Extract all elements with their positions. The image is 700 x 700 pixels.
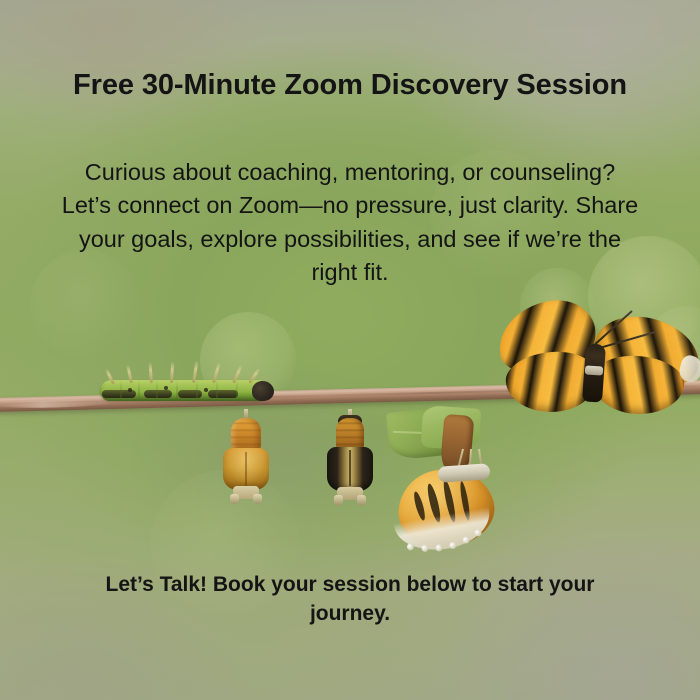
caterpillar-marking bbox=[208, 390, 238, 398]
chrysalis-wing-case bbox=[327, 447, 373, 491]
caterpillar-segment bbox=[216, 380, 218, 401]
caterpillar-segment bbox=[120, 380, 122, 401]
wing-spot bbox=[421, 544, 429, 552]
caterpillar-marking bbox=[178, 390, 202, 398]
chrysalis-tip bbox=[253, 494, 262, 504]
chrysalis-darkening bbox=[326, 418, 374, 506]
chrysalis-tip bbox=[357, 495, 366, 506]
chrysalis-golden bbox=[221, 418, 271, 504]
caterpillar-marking bbox=[144, 390, 172, 398]
butterfly-body-band bbox=[585, 365, 604, 375]
call-to-action-text: Let’s Talk! Book your session below to s… bbox=[70, 571, 630, 628]
caterpillar-segment bbox=[196, 380, 198, 401]
chrysalis-abdomen bbox=[231, 418, 261, 452]
promo-card: Free 30-Minute Zoom Discovery Session Cu… bbox=[0, 0, 700, 700]
chrysalis-wing-case bbox=[223, 448, 269, 490]
wing-spot bbox=[462, 536, 470, 544]
body-description: Curious about coaching, mentoring, or co… bbox=[58, 156, 642, 289]
caterpillar bbox=[92, 372, 278, 406]
caterpillar-spot bbox=[204, 388, 208, 392]
caterpillar-segment bbox=[138, 380, 140, 401]
caterpillar-spot bbox=[164, 386, 168, 390]
caterpillar-segment bbox=[176, 380, 178, 401]
wing-spot bbox=[474, 529, 482, 537]
wing-spot bbox=[406, 543, 414, 551]
caterpillar-segment bbox=[236, 380, 238, 401]
wing-spot bbox=[435, 544, 443, 552]
emerging-butterfly-thorax bbox=[438, 463, 491, 483]
page-title: Free 30-Minute Zoom Discovery Session bbox=[60, 68, 640, 103]
caterpillar-spine bbox=[149, 363, 153, 383]
caterpillar-head bbox=[252, 381, 274, 401]
caterpillar-spot bbox=[128, 388, 132, 392]
chrysalis-tip bbox=[230, 494, 239, 504]
caterpillar-segment bbox=[156, 380, 158, 401]
adult-butterfly bbox=[492, 300, 700, 428]
chrysalis-tip bbox=[334, 495, 343, 506]
wing-spot bbox=[449, 541, 457, 549]
